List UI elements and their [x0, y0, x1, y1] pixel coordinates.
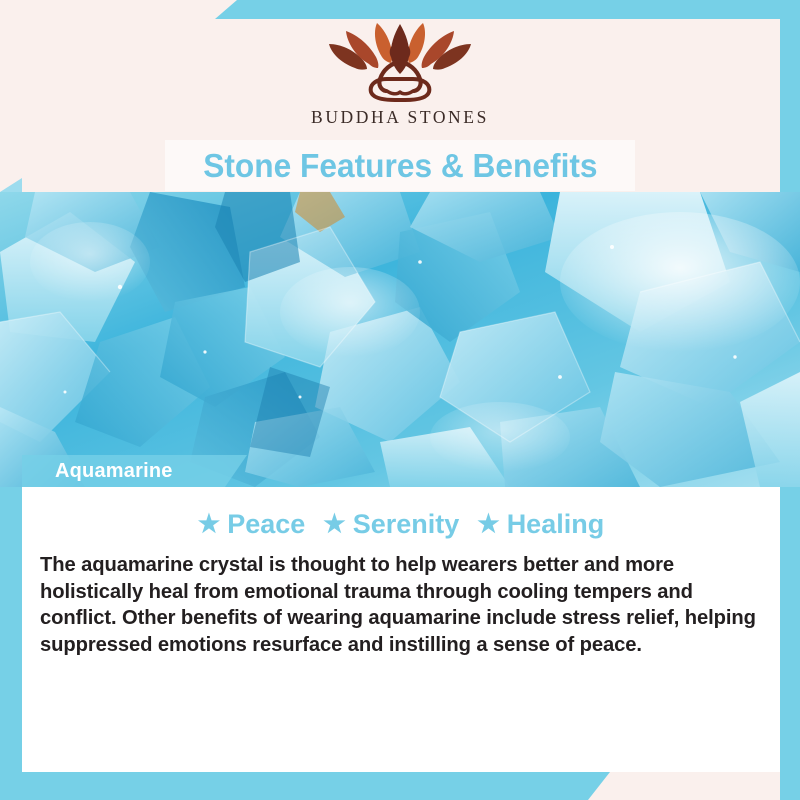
- star-icon: ★: [198, 512, 220, 537]
- feature-label: Healing: [507, 509, 605, 540]
- content-panel: ★ Peace ★ Serenity ★ Healing The aquamar…: [22, 487, 780, 772]
- title-panel: Stone Features & Benefits: [165, 140, 635, 191]
- feature-label: Peace: [227, 509, 305, 540]
- feature-label: Serenity: [353, 509, 460, 540]
- stone-photo: [0, 192, 800, 487]
- star-icon: ★: [477, 512, 499, 537]
- page-title: Stone Features & Benefits: [203, 147, 597, 185]
- feature-item-peace: ★ Peace: [198, 509, 306, 540]
- stone-name-badge: Aquamarine: [22, 455, 247, 487]
- brand-logo: BUDDHA STONES: [0, 22, 800, 128]
- lotus-meditation-icon: [325, 22, 475, 104]
- header: BUDDHA STONES Stone Features & Benefits: [0, 0, 800, 192]
- star-icon: ★: [323, 512, 345, 537]
- infographic-page: BUDDHA STONES Stone Features & Benefits: [0, 0, 800, 800]
- aquamarine-crystal-illustration: [0, 192, 800, 487]
- decorative-band-bottom: [0, 772, 610, 800]
- stone-name-label: Aquamarine: [55, 460, 173, 483]
- feature-list: ★ Peace ★ Serenity ★ Healing: [34, 509, 768, 540]
- feature-item-healing: ★ Healing: [477, 509, 604, 540]
- description-paragraph: The aquamarine crystal is thought to hel…: [40, 552, 762, 659]
- feature-item-serenity: ★ Serenity: [323, 509, 459, 540]
- brand-name: BUDDHA STONES: [311, 107, 489, 128]
